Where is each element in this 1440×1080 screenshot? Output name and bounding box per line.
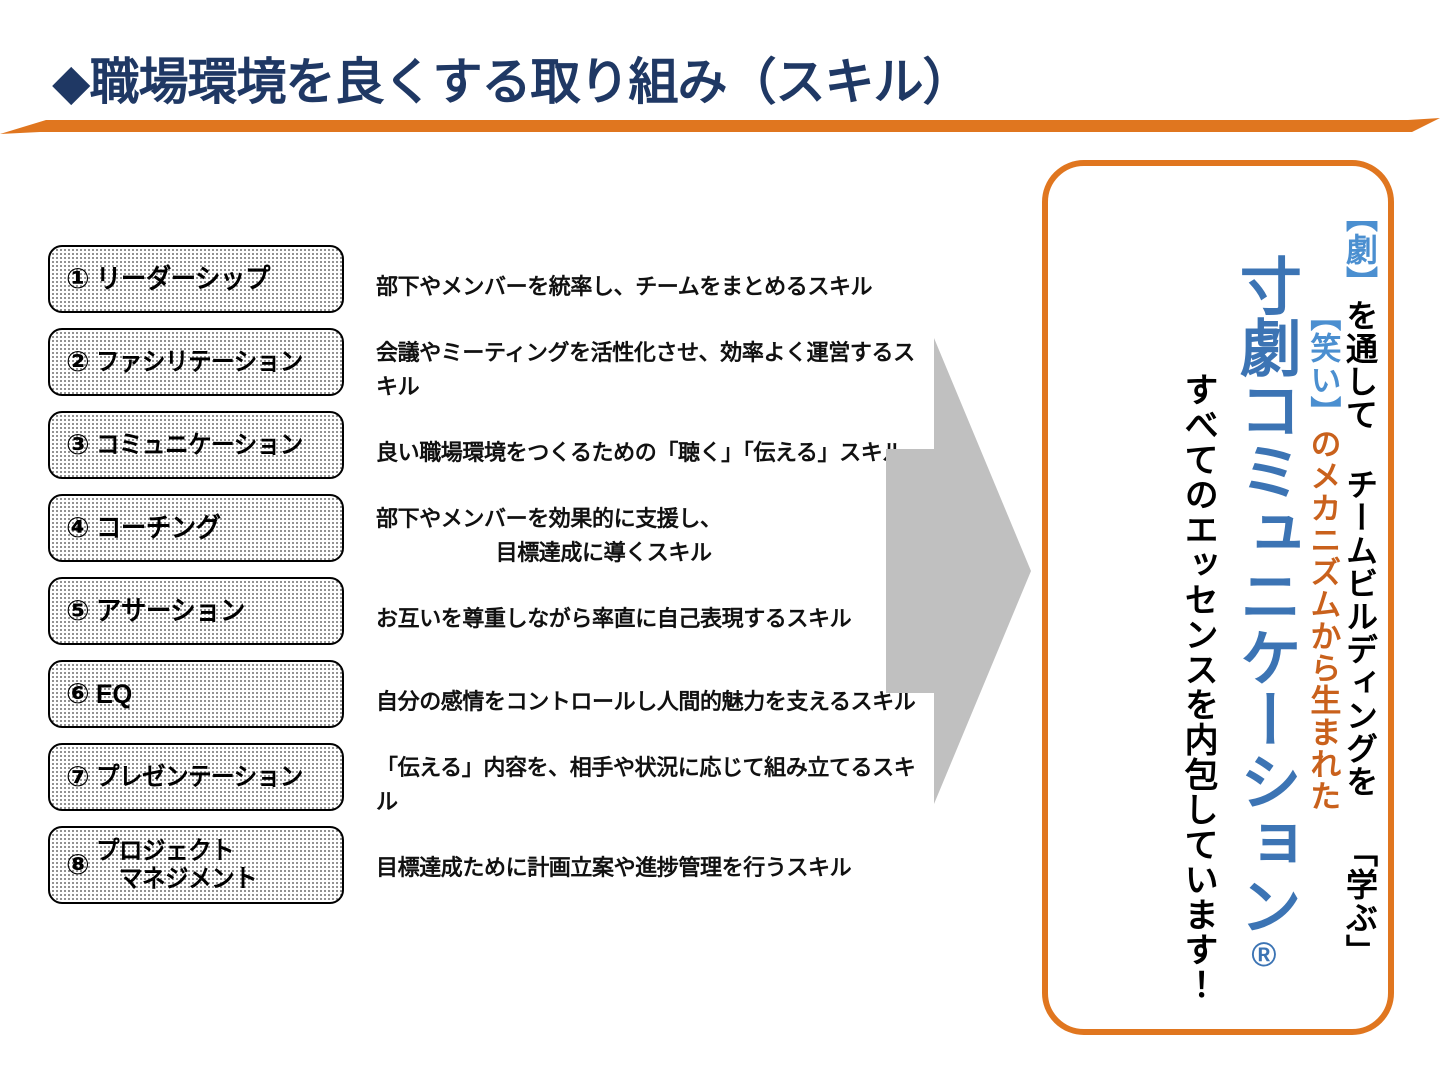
list-item[interactable]: ④ コーチング 部下やメンバーを効果的に支援し、 目標達成に導くスキル: [48, 494, 928, 577]
skill-box[interactable]: ① リーダーシップ: [48, 245, 344, 313]
promo-origin-rest: のメカニズムから生まれた: [1305, 428, 1340, 812]
skill-box[interactable]: ⑤ アサーション: [48, 577, 344, 645]
list-item[interactable]: ⑤ アサーション お互いを尊重しながら率直に自己表現するスキル: [48, 577, 928, 660]
skill-description-line1: 部下やメンバーを効果的に支援し、: [376, 505, 722, 530]
title-underline-bar: [0, 118, 1440, 134]
skill-box[interactable]: ⑧ プロジェクト マネジメント: [48, 826, 344, 904]
skill-number: ⑧: [66, 851, 90, 879]
slide-canvas: ◆職場環境を良くする取り組み（スキル） ① リーダーシップ 部下やメンバーを統率…: [0, 0, 1440, 1080]
list-item[interactable]: ② ファシリテーション 会議やミーティングを活性化させ、効率よく運営するスキル: [48, 328, 928, 411]
skill-name: コミュニケーション: [96, 431, 328, 459]
list-item[interactable]: ⑦ プレゼンテーション 「伝える」内容を、相手や状況に応じて組み立てるスキル: [48, 743, 928, 826]
promo-vertical-columns: 【劇】を通して チームビルディングを 「学ぶ」 【笑い】のメカニズムから生まれた…: [1048, 166, 1388, 1029]
right-arrow-icon: [886, 338, 1031, 804]
promo-tagline: 【劇】を通して チームビルディングを 「学ぶ」: [1342, 200, 1376, 967]
skill-description: 「伝える」内容を、相手や状況に応じて組み立てるスキル: [376, 750, 928, 818]
list-item[interactable]: ⑧ プロジェクト マネジメント 目標達成ために計画立案や進捗管理を行うスキル: [48, 826, 928, 909]
skill-box[interactable]: ⑥ EQ: [48, 660, 344, 728]
skill-number: ③: [66, 431, 90, 459]
promo-tagline-bracket: 【劇】: [1342, 200, 1378, 299]
skill-name: プレゼンテーション: [96, 763, 328, 791]
skill-number: ①: [66, 265, 90, 293]
skill-name: リーダーシップ: [96, 264, 328, 294]
skill-name: ファシリテーション: [96, 348, 328, 376]
skill-box[interactable]: ③ コミュニケーション: [48, 411, 344, 479]
skill-description: 良い職場環境をつくるための「聴く」「伝える」スキル: [376, 435, 904, 469]
promo-brand-text: 寸劇コミュニケーション: [1230, 254, 1299, 936]
skill-description: 部下やメンバーを統率し、チームをまとめるスキル: [376, 269, 872, 303]
skill-description: 目標達成ために計画立案や進捗管理を行うスキル: [376, 850, 851, 884]
skill-number: ⑤: [66, 597, 90, 625]
skill-name: プロジェクト マネジメント: [96, 837, 328, 893]
promo-box: 【劇】を通して チームビルディングを 「学ぶ」 【笑い】のメカニズムから生まれた…: [1042, 160, 1394, 1035]
promo-origin: 【笑い】のメカニズムから生まれた: [1306, 300, 1339, 812]
skill-number: ⑦: [66, 763, 90, 791]
slide-title-row: ◆職場環境を良くする取り組み（スキル）: [0, 46, 1440, 118]
skill-box[interactable]: ② ファシリテーション: [48, 328, 344, 396]
skill-number: ②: [66, 348, 90, 376]
skill-name: アサーション: [96, 596, 328, 626]
skill-description: 会議やミーティングを活性化させ、効率よく運営するスキル: [376, 335, 928, 403]
promo-tagline-rest: を通して チームビルディングを 「学ぶ」: [1342, 299, 1378, 967]
skill-box[interactable]: ④ コーチング: [48, 494, 344, 562]
skill-box[interactable]: ⑦ プレゼンテーション: [48, 743, 344, 811]
promo-brand-name: 寸劇コミュニケーション®: [1233, 254, 1294, 974]
list-item[interactable]: ① リーダーシップ 部下やメンバーを統率し、チームをまとめるスキル: [48, 245, 928, 328]
skill-description-line2: 目標達成に導くスキル: [376, 536, 722, 570]
skill-description: お互いを尊重しながら率直に自己表現するスキル: [376, 601, 851, 635]
promo-essence: すべてのエッセンスを内包しています！: [1179, 372, 1215, 1002]
skill-number: ④: [66, 514, 90, 542]
promo-origin-bracket: 【笑い】: [1305, 300, 1340, 428]
skill-number: ⑥: [66, 680, 90, 708]
page-title: ◆職場環境を良くする取り組み（スキル）: [52, 57, 971, 107]
skill-name: コーチング: [96, 513, 328, 543]
registered-trademark-icon: ®: [1245, 936, 1283, 974]
skill-name: EQ: [96, 679, 328, 709]
skill-description: 自分の感情をコントロールし人間的魅力を支えるスキル: [376, 684, 915, 718]
skill-list: ① リーダーシップ 部下やメンバーを統率し、チームをまとめるスキル ② ファシリ…: [48, 245, 928, 909]
list-item[interactable]: ⑥ EQ 自分の感情をコントロールし人間的魅力を支えるスキル: [48, 660, 928, 743]
